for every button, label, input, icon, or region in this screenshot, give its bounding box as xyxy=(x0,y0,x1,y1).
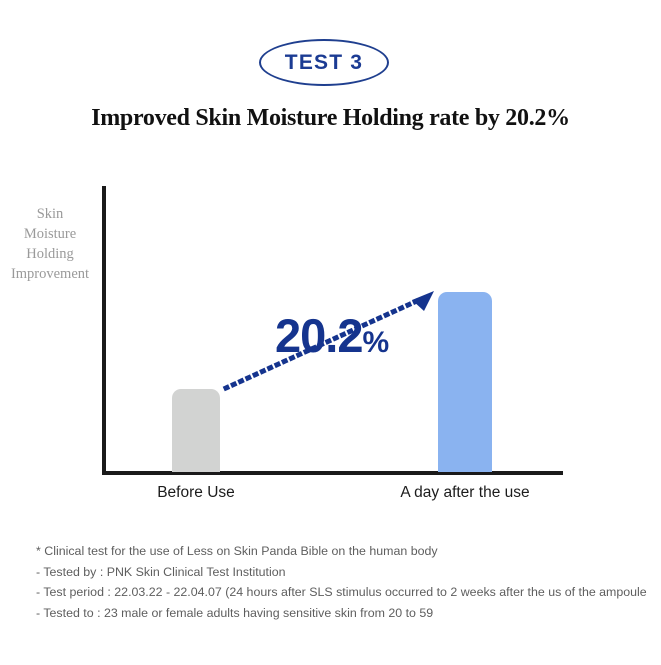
footnote-item: - Tested to : 23 male or female adults h… xyxy=(36,603,661,624)
bar-after-use xyxy=(438,292,492,472)
y-axis-line xyxy=(102,186,106,475)
footnote-item: * Clinical test for the use of Less on S… xyxy=(36,541,661,562)
y-axis-title-line-1: Skin xyxy=(0,204,100,224)
footnote-list: * Clinical test for the use of Less on S… xyxy=(36,541,661,623)
y-axis-title-line-3: Holding xyxy=(0,244,100,264)
x-axis-label-before-use: Before Use xyxy=(126,484,266,502)
bar-before-use xyxy=(172,389,220,472)
footnote-item: - Test period : 22.03.22 - 22.04.07 (24 … xyxy=(36,582,661,603)
delta-annotation: 20.2% xyxy=(275,308,389,363)
y-axis-title-line-4: Improvement xyxy=(0,264,100,284)
x-axis-label-after-use: A day after the use xyxy=(375,484,555,502)
delta-value: 20.2 xyxy=(275,309,362,362)
delta-unit: % xyxy=(362,326,388,359)
y-axis-title: Skin Moisture Holding Improvement xyxy=(0,204,100,284)
footnote-item: - Tested by : PNK Skin Clinical Test Ins… xyxy=(36,562,661,583)
y-axis-title-line-2: Moisture xyxy=(0,224,100,244)
